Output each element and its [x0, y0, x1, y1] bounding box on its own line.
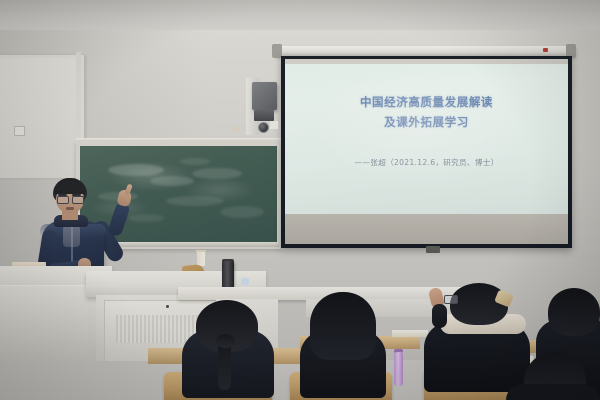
wall-mounted-speaker-icon	[252, 82, 277, 110]
wall-device-label	[270, 121, 278, 129]
student-3-glasses-icon	[444, 295, 458, 304]
desk-screw-left	[166, 305, 169, 308]
wall-knob	[232, 126, 241, 133]
student-5-body	[506, 384, 600, 400]
ceiling	[0, 0, 600, 34]
wall-device-base	[254, 110, 274, 121]
lecturer-right-forearm	[107, 201, 131, 238]
pink-water-bottle	[394, 352, 403, 386]
glasses-icon-left	[57, 196, 69, 204]
screen-bottom-sensor	[426, 246, 440, 253]
papers-on-desk	[392, 330, 428, 337]
glasses-icon-right	[72, 196, 84, 204]
light-switch[interactable]	[14, 126, 25, 136]
camera-lens-icon	[258, 122, 269, 133]
student-1-hair-tie	[216, 334, 235, 348]
student-4-hair	[548, 288, 600, 336]
lecturer-mouth	[66, 207, 74, 210]
lecturer-fringe	[54, 185, 86, 194]
dark-thermos-bottle	[222, 261, 234, 290]
slide-subtitle: ——张超（2021.12.6，研究员、博士）	[285, 157, 568, 168]
screen-lower-band	[285, 214, 568, 244]
door-frame	[0, 55, 84, 178]
lecturer-pointing-finger	[124, 183, 133, 195]
small-blue-item	[241, 278, 249, 285]
slide-title-line-2: 及课外拓展学习	[285, 114, 568, 130]
classroom-photo: 中国经济高质量发展解读 及课外拓展学习 ——张超（2021.12.6，研究员、博…	[0, 0, 600, 400]
student-2-hair	[310, 292, 376, 360]
slide-title-line-1: 中国经济高质量发展解读	[285, 94, 568, 110]
presentation-slide: 中国经济高质量发展解读 及课外拓展学习 ——张超（2021.12.6，研究员、博…	[285, 62, 568, 214]
left-lectern-front-panel	[0, 285, 88, 364]
student-3-arm	[432, 304, 447, 328]
roller-indicator	[543, 48, 548, 52]
